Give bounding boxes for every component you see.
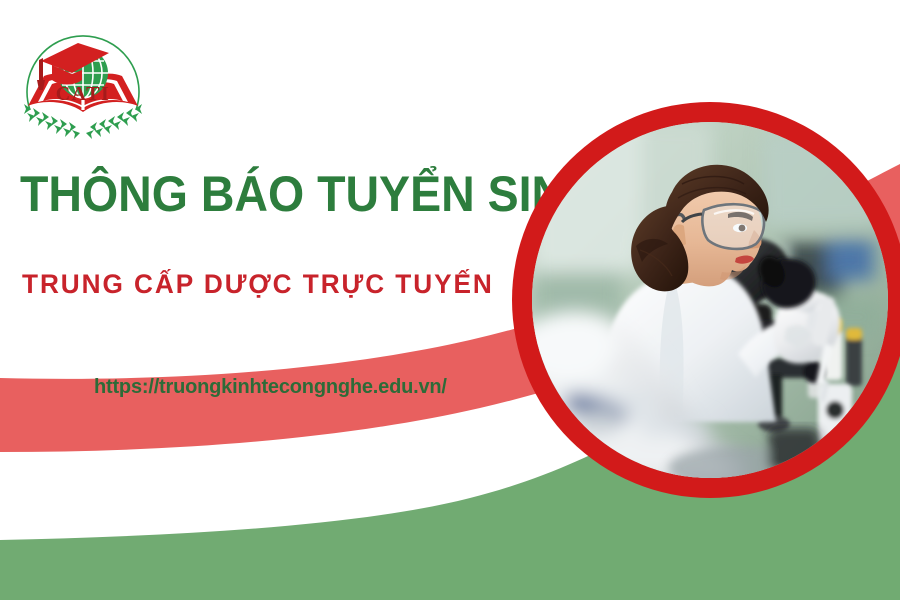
photo-circle xyxy=(512,102,900,498)
poster-canvas: CATI xyxy=(0,0,900,600)
website-url[interactable]: https://truongkinhtecongnghe.edu.vn/ xyxy=(94,374,447,400)
cati-school-logo: CATI xyxy=(8,18,158,153)
page-title: THÔNG BÁO TUYỂN SINH xyxy=(20,166,485,222)
logo-monogram: CATI xyxy=(56,83,111,105)
lab-technician-photo xyxy=(532,122,888,478)
page-subtitle: TRUNG CẤP DƯỢC TRỰC TUYẾN xyxy=(22,268,526,300)
photo-mask xyxy=(532,122,888,478)
